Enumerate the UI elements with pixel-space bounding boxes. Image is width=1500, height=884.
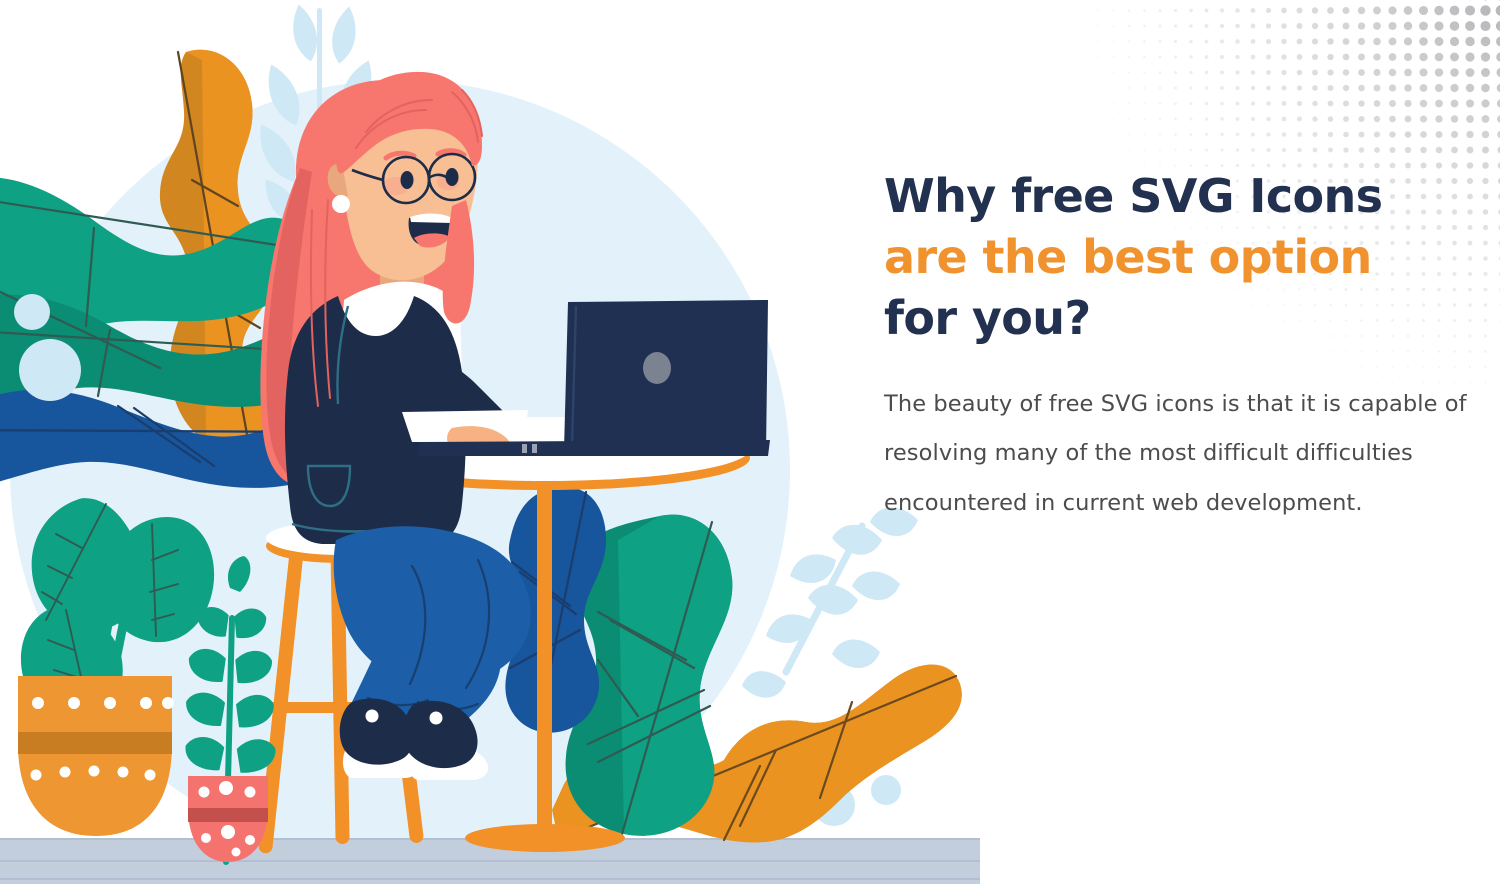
eye (446, 168, 459, 186)
eye (401, 171, 414, 189)
laptop-hinge-light (532, 444, 537, 453)
hero-illustration (0, 0, 980, 884)
pale-blue-dot (19, 339, 81, 401)
laptop-base (418, 440, 770, 456)
poster-canvas: Why free SVG Icons are the best option f… (0, 0, 1500, 884)
pale-blue-dot (14, 294, 50, 330)
headline-line-2: are the best option (884, 227, 1484, 288)
laptop-logo (643, 352, 671, 384)
earring (332, 195, 350, 213)
headline-line-3: for you? (884, 288, 1484, 349)
headline-line-1: Why free SVG Icons (884, 166, 1484, 227)
text-column: Why free SVG Icons are the best option f… (884, 166, 1484, 529)
page-title: Why free SVG Icons are the best option f… (884, 166, 1484, 350)
body-paragraph: The beauty of free SVG icons is that it … (884, 350, 1484, 530)
laptop-hinge-light (522, 444, 527, 453)
pale-blue-dot (871, 775, 901, 805)
